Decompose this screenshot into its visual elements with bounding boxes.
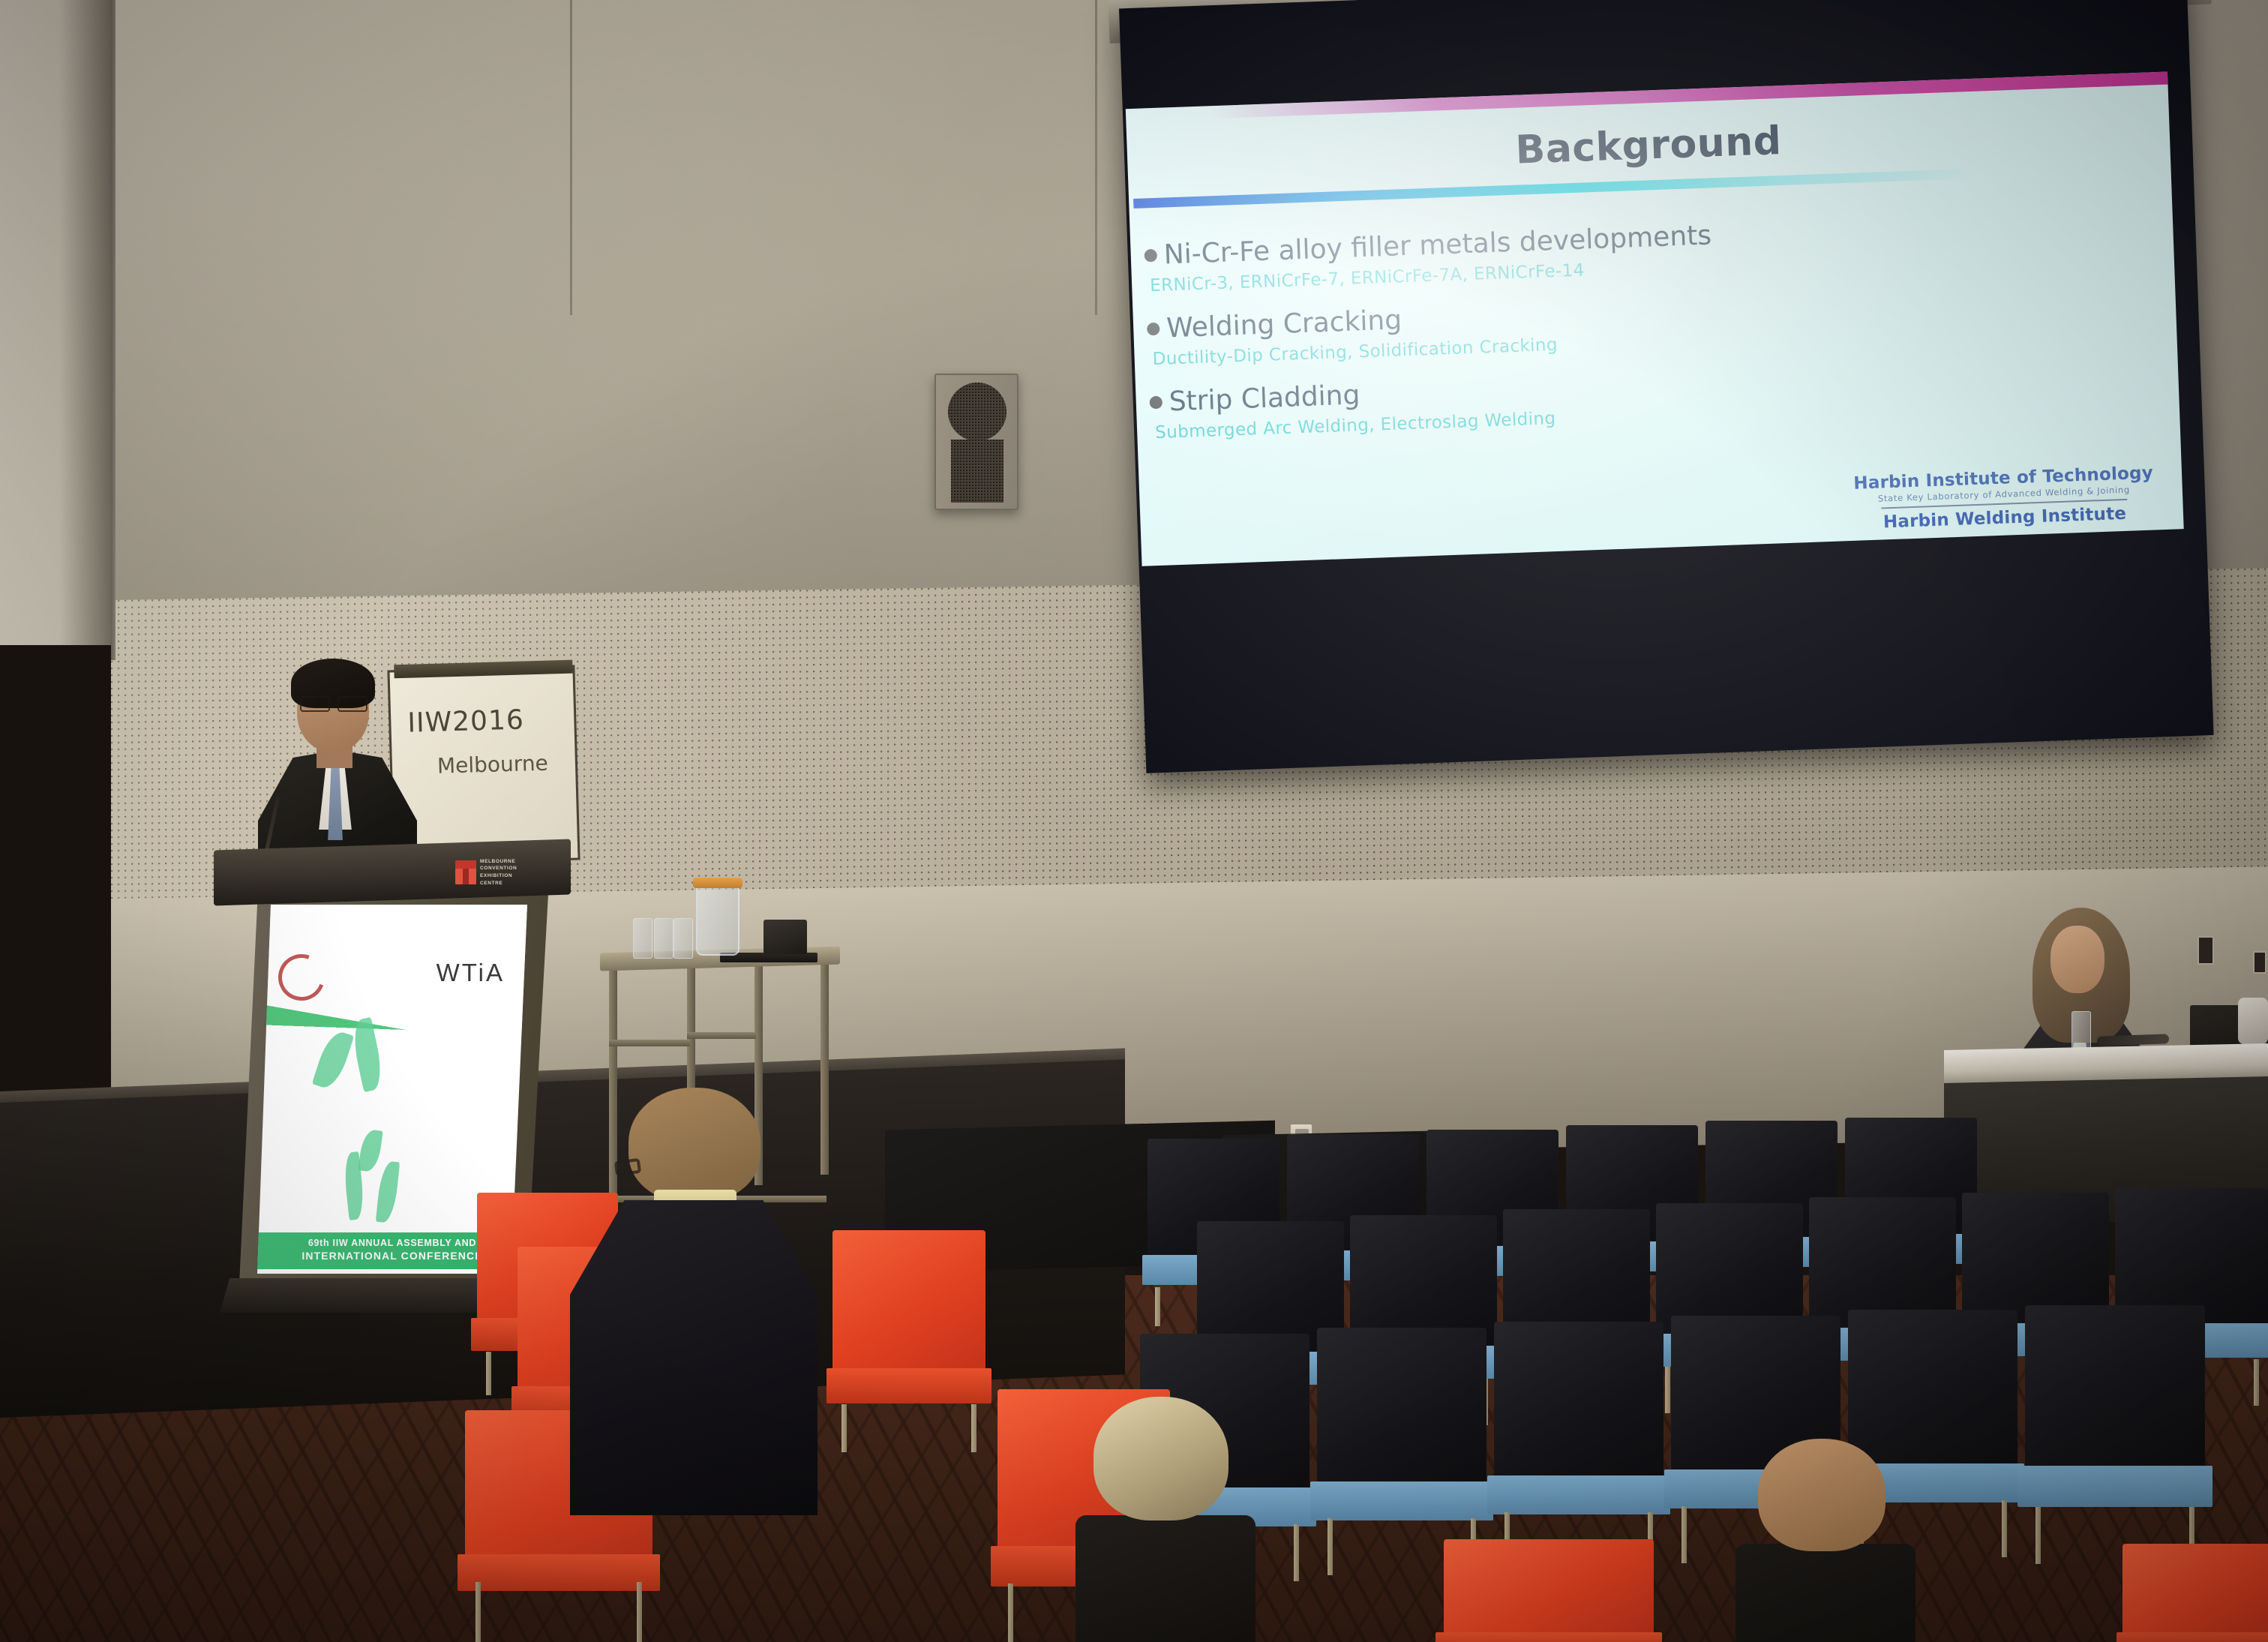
- head-table-water-glass: [2071, 1011, 2091, 1050]
- bullet-dot-icon: [1147, 323, 1160, 336]
- panel-seam: [570, 0, 572, 315]
- water-glass: [654, 918, 673, 959]
- wall-speaker-icon: [934, 374, 1018, 510]
- chair-red[interactable]: [832, 1230, 985, 1452]
- slide-bullet-list: Ni-Cr-Fe alloy filler metals development…: [1144, 207, 2119, 462]
- panel-seam: [1095, 0, 1097, 315]
- flipchart-line-2: Melbourne: [437, 751, 549, 779]
- eyeglasses-icon: [300, 696, 367, 709]
- chair-black[interactable]: [1317, 1328, 1486, 1575]
- audience-torso: [1735, 1544, 1915, 1642]
- audience-torso: [1075, 1515, 1255, 1642]
- bullet-dot-icon: [1150, 396, 1163, 410]
- speaker-grille-lower: [951, 440, 1003, 503]
- wall-corner-return: [0, 0, 114, 645]
- chair-black[interactable]: [1494, 1322, 1663, 1569]
- conference-room-photo: Background Ni-Cr-Fe alloy filler metals …: [0, 0, 2268, 1642]
- projection-screen: Background Ni-Cr-Fe alloy filler metals …: [1108, 0, 2238, 782]
- table-rail: [609, 1040, 690, 1046]
- head-table-phone: [2238, 998, 2268, 1044]
- audience-head: [628, 1088, 760, 1202]
- presentation-slide: Background Ni-Cr-Fe alloy filler metals …: [1126, 72, 2184, 566]
- chair-black[interactable]: [2025, 1305, 2205, 1564]
- bullet-heading: Strip Cladding: [1168, 382, 1360, 417]
- audience-torso: [570, 1200, 817, 1515]
- bullet-heading: Welding Cracking: [1166, 306, 1402, 343]
- venue-logo-plaque: MELBOURNE CONVENTION EXHIBITION CENTRE: [455, 855, 545, 890]
- wtia-logo: WTiA: [436, 959, 505, 987]
- banner-leaf-shape: [358, 1128, 383, 1172]
- water-jug-lid: [693, 878, 742, 888]
- wall-plate: [2253, 951, 2266, 974]
- wall-trim: [111, 0, 115, 660]
- audience-member: [1093, 1397, 1288, 1642]
- venue-line: EXHIBITION: [480, 872, 517, 880]
- slide-institution-footer: Harbin Institute of Technology State Key…: [1838, 463, 2170, 534]
- banner-leaf-shape: [376, 1160, 400, 1223]
- venue-line: CENTRE: [480, 880, 517, 887]
- wall-plate: [2197, 936, 2214, 965]
- chair-red[interactable]: [1444, 1539, 1654, 1642]
- speaker-grille-upper: [948, 383, 1006, 441]
- banner-leaf-shape: [312, 1028, 354, 1092]
- water-jug: [696, 885, 739, 956]
- audience-head: [1093, 1397, 1228, 1520]
- water-glass: [633, 918, 652, 959]
- slide-title: Background: [1126, 105, 2170, 188]
- audience-head: [1758, 1439, 1885, 1551]
- venue-line: CONVENTION: [480, 865, 517, 872]
- venue-line: MELBOURNE: [480, 858, 517, 866]
- audience-member: [570, 1088, 825, 1538]
- table-rail: [687, 1032, 756, 1039]
- moderator-face: [2050, 926, 2104, 993]
- av-device: [763, 920, 807, 954]
- audience-member: [1758, 1439, 1945, 1642]
- chair-red[interactable]: [2122, 1544, 2268, 1642]
- bullet-dot-icon: [1144, 249, 1157, 263]
- venue-name-lines: MELBOURNE CONVENTION EXHIBITION CENTRE: [480, 858, 517, 887]
- water-glass: [673, 918, 693, 959]
- mcec-mark-icon: [455, 860, 476, 884]
